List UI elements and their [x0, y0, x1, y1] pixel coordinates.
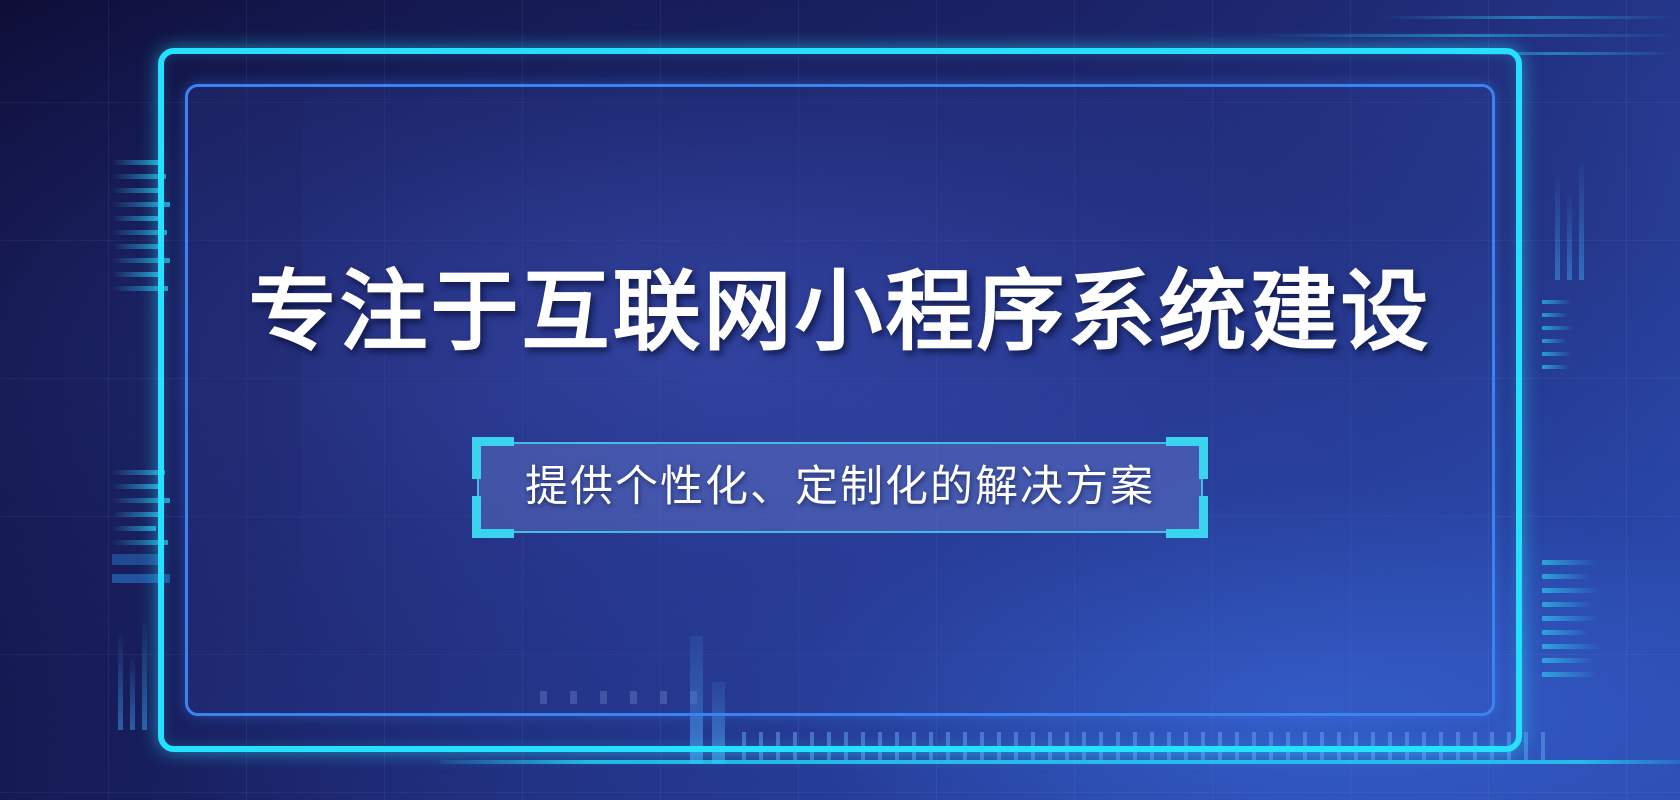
- corner-bracket-bottom-right-icon: [1166, 496, 1208, 538]
- headline: 专注于互联网小程序系统建设: [248, 268, 1431, 356]
- corner-bracket-bottom-left-icon: [472, 496, 514, 538]
- banner-content: 专注于互联网小程序系统建设 提供个性化、定制化的解决方案: [0, 0, 1680, 800]
- subtitle: 提供个性化、定制化的解决方案: [525, 466, 1155, 509]
- promo-banner: 专注于互联网小程序系统建设 提供个性化、定制化的解决方案: [0, 0, 1680, 800]
- corner-bracket-top-left-icon: [472, 437, 514, 479]
- corner-bracket-top-right-icon: [1166, 437, 1208, 479]
- subtitle-box: 提供个性化、定制化的解决方案: [477, 442, 1203, 533]
